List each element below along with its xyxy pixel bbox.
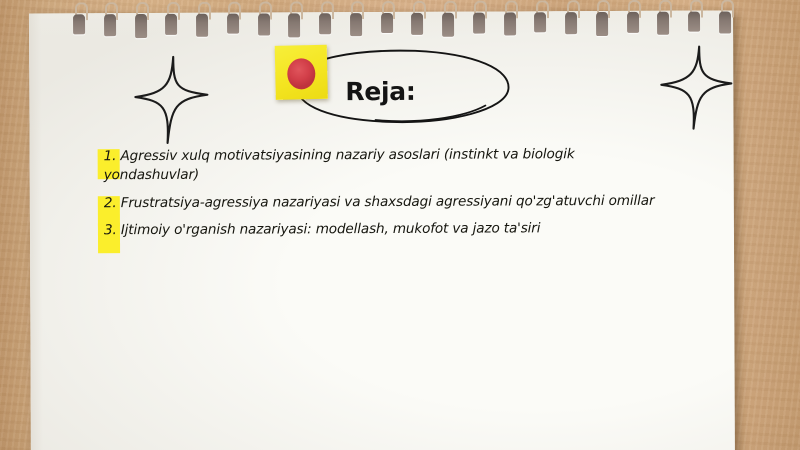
yellow-sticky-note[interactable] — [275, 45, 328, 100]
binding-hole — [73, 14, 85, 34]
notepad-sheet: Reja: 1. Agressiv xulq motivatsiyasining… — [29, 10, 735, 450]
binding-hole — [504, 12, 516, 35]
binding-hole — [165, 14, 177, 35]
binding-hole — [104, 14, 116, 36]
agenda-item: 2. Frustratsiya-agressiya nazariyasi va … — [98, 191, 658, 212]
binding-hole — [657, 12, 669, 35]
sparkle-right-icon — [657, 40, 737, 137]
agenda-item-text: 1. Agressiv xulq motivatsiyasining nazar… — [98, 145, 658, 185]
sparkle-left-icon — [129, 51, 213, 152]
binding-hole — [350, 13, 362, 36]
spiral-binding — [29, 10, 733, 47]
binding-hole — [596, 12, 608, 36]
binding-hole — [688, 12, 700, 32]
slide-canvas: Reja: 1. Agressiv xulq motivatsiyasining… — [0, 0, 800, 450]
agenda-item: 1. Agressiv xulq motivatsiyasining nazar… — [98, 145, 658, 185]
binding-hole — [227, 14, 239, 34]
binding-hole — [411, 13, 423, 35]
binding-hole — [196, 14, 208, 37]
page-title: Reja: — [345, 77, 415, 106]
binding-hole — [381, 13, 393, 33]
binding-hole — [319, 13, 331, 34]
binding-hole — [719, 11, 731, 33]
agenda-list: 1. Agressiv xulq motivatsiyasining nazar… — [98, 145, 658, 249]
agenda-item-text: 2. Frustratsiya-agressiya nazariyasi va … — [98, 191, 658, 212]
binding-hole — [442, 13, 454, 37]
binding-hole — [135, 14, 147, 38]
agenda-item: 3. Ijtimoiy o'rganish nazariyasi: modell… — [98, 219, 658, 240]
red-dot-icon — [287, 58, 316, 90]
binding-hole — [473, 13, 485, 34]
binding-hole — [288, 13, 300, 37]
agenda-item-text: 3. Ijtimoiy o'rganish nazariyasi: modell… — [98, 219, 658, 240]
binding-hole — [534, 12, 546, 32]
binding-hole — [258, 13, 270, 35]
binding-hole — [565, 12, 577, 34]
binding-hole — [627, 12, 639, 33]
